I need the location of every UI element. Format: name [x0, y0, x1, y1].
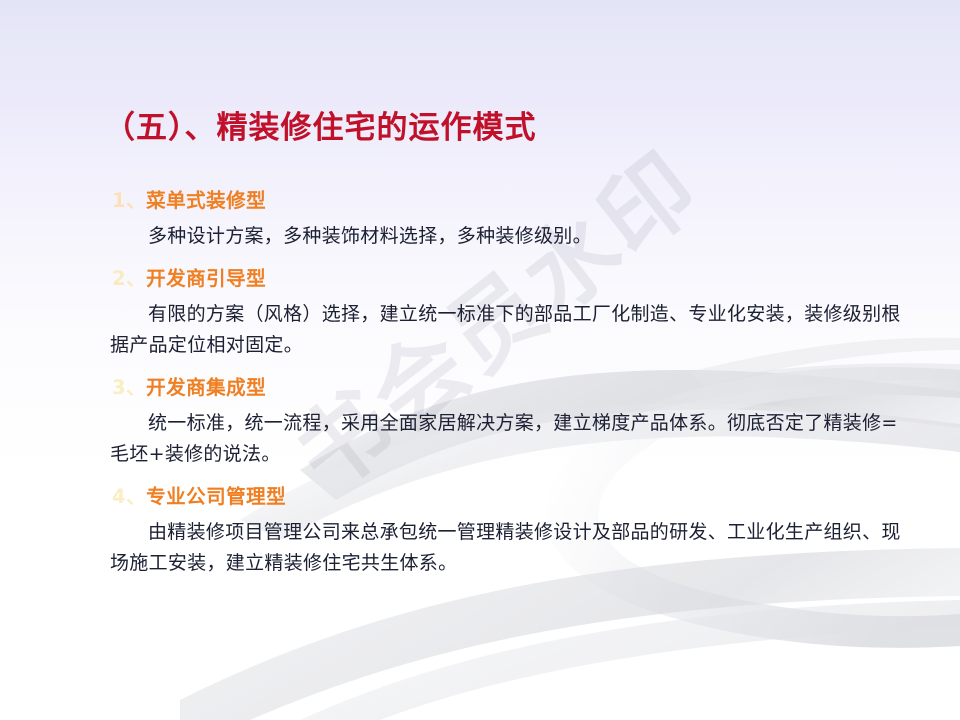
section-number: 3、: [112, 376, 146, 399]
section-item: 2、开发商引导型 有限的方案（风格）选择，建立统一标准下的部品工厂化制造、专业化…: [112, 264, 902, 361]
section-body: 统一标准，统一流程，采用全面家居解决方案，建立梯度产品体系。彻底否定了精装修=毛…: [110, 408, 902, 470]
section-number: 1、: [112, 189, 146, 212]
section-heading: 4、专业公司管理型: [112, 482, 902, 512]
section-item: 3、开发商集成型 统一标准，统一流程，采用全面家居解决方案，建立梯度产品体系。彻…: [112, 373, 902, 470]
section-heading: 1、菜单式装修型: [112, 186, 902, 216]
section-heading: 3、开发商集成型: [112, 373, 902, 403]
sections-list: 1、菜单式装修型 多种设计方案，多种装饰材料选择，多种装修级别。 2、开发商引导…: [112, 186, 902, 579]
section-item: 4、专业公司管理型 由精装修项目管理公司来总承包统一管理精装修设计及部品的研发、…: [112, 482, 902, 579]
page-title: （五）、精装修住宅的运作模式: [104, 102, 537, 147]
slide-content: （五）、精装修住宅的运作模式 1、菜单式装修型 多种设计方案，多种装饰材料选择，…: [0, 0, 960, 720]
section-body: 多种设计方案，多种装饰材料选择，多种装修级别。: [110, 221, 902, 252]
section-number: 4、: [112, 485, 146, 508]
section-item: 1、菜单式装修型 多种设计方案，多种装饰材料选择，多种装修级别。: [112, 186, 902, 252]
section-body: 有限的方案（风格）选择，建立统一标准下的部品工厂化制造、专业化安装，装修级别根据…: [110, 299, 902, 361]
section-heading-text: 开发商引导型: [146, 267, 266, 290]
section-heading-text: 菜单式装修型: [146, 189, 266, 212]
section-heading-text: 开发商集成型: [146, 376, 266, 399]
section-heading: 2、开发商引导型: [112, 264, 902, 294]
section-body: 由精装修项目管理公司来总承包统一管理精装修设计及部品的研发、工业化生产组织、现场…: [110, 517, 902, 579]
section-heading-text: 专业公司管理型: [146, 485, 286, 508]
presentation-slide: 书会员水印 （五）、精装修住宅的运作模式 1、菜单式装修型 多种设计方案，多种装…: [0, 0, 960, 720]
section-number: 2、: [112, 267, 146, 290]
